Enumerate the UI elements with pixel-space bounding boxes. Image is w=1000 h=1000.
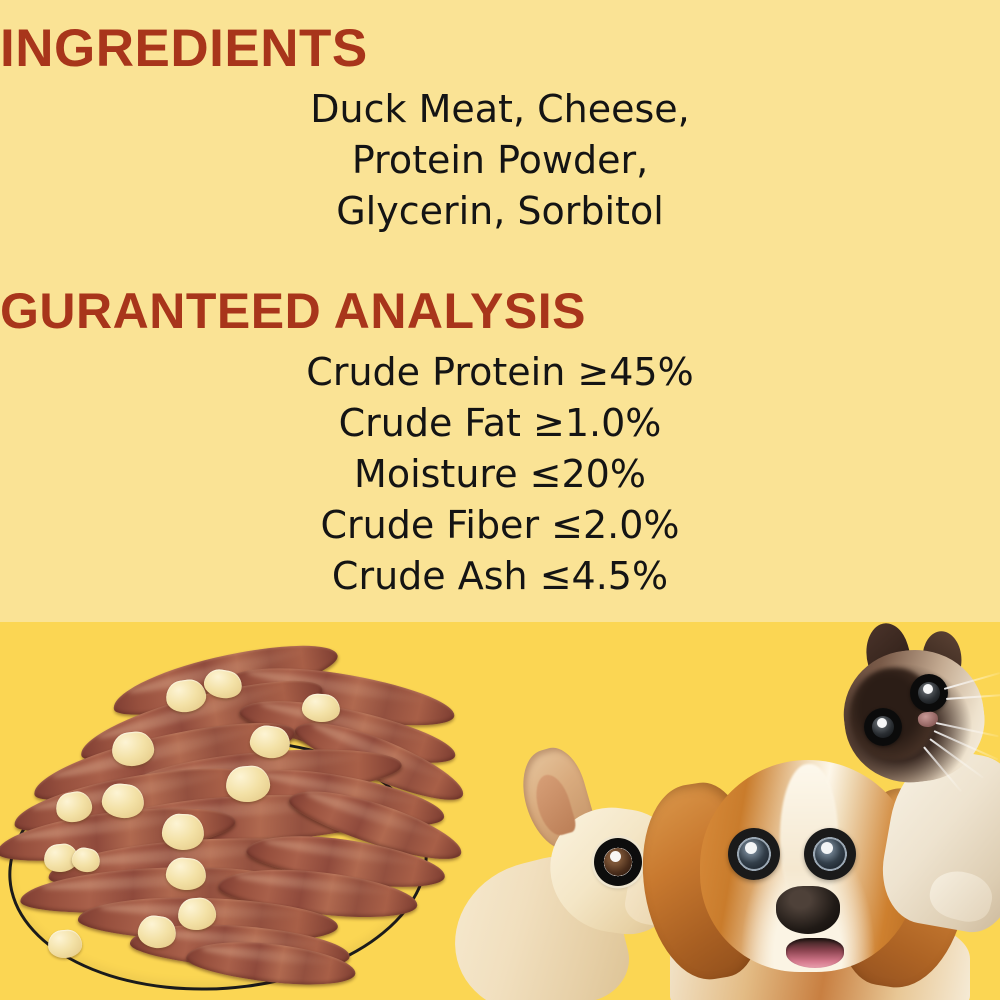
himalayan-cat	[826, 626, 1000, 916]
label-info-panel: INGREDIENTS Duck Meat, Cheese, Protein P…	[0, 0, 1000, 622]
cat-upper-eye	[910, 674, 948, 712]
product-photo-band	[0, 622, 1000, 1000]
guaranteed-analysis-list: Crude Protein ≥45% Crude Fat ≥1.0% Moist…	[0, 347, 1000, 602]
ingredient-line: Duck Meat, Cheese,	[0, 84, 1000, 135]
ingredients-heading: INGREDIENTS	[0, 22, 1000, 75]
analysis-row: Crude Fat ≥1.0%	[0, 398, 1000, 449]
ingredients-list: Duck Meat, Cheese, Protein Powder, Glyce…	[0, 84, 1000, 237]
spaniel-open-mouth	[786, 938, 844, 968]
cheese-piece	[47, 929, 83, 959]
analysis-row: Moisture ≤20%	[0, 449, 1000, 500]
analysis-row: Crude Fiber ≤2.0%	[0, 500, 1000, 551]
duck-jerky-pile	[0, 644, 410, 974]
analysis-row: Crude Ash ≤4.5%	[0, 551, 1000, 602]
spaniel-left-eye	[728, 828, 780, 880]
chihuahua-eye	[594, 838, 642, 886]
cat-lower-eye	[864, 708, 902, 746]
ingredient-line: Glycerin, Sorbitol	[0, 186, 1000, 237]
analysis-row: Crude Protein ≥45%	[0, 347, 1000, 398]
product-label-page: INGREDIENTS Duck Meat, Cheese, Protein P…	[0, 0, 1000, 1000]
guaranteed-analysis-heading: GURANTEED ANALYSIS	[0, 286, 1000, 336]
ingredient-line: Protein Powder,	[0, 135, 1000, 186]
